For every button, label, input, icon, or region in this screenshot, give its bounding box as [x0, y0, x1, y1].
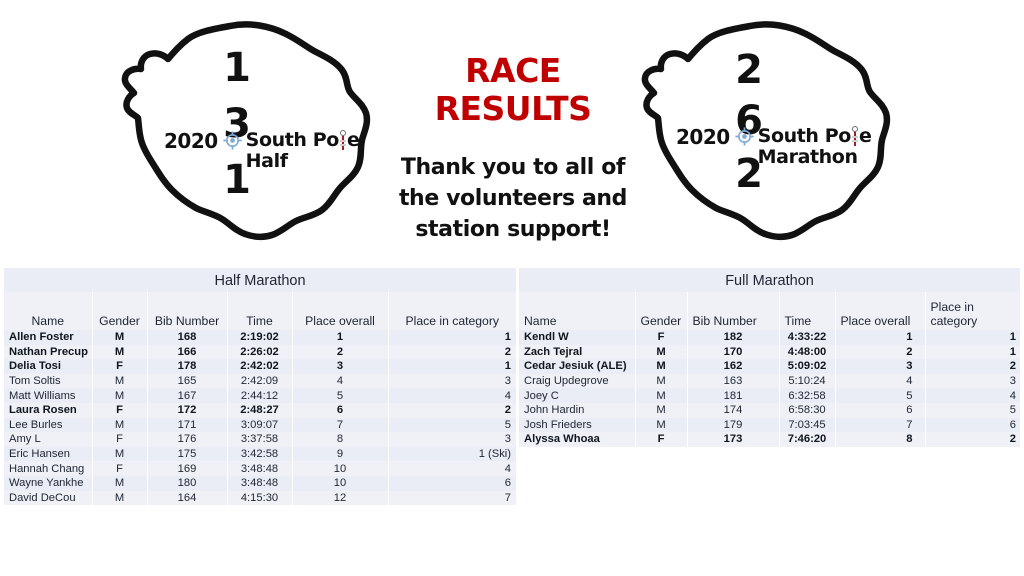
cell-place-category: 1 — [388, 330, 516, 345]
cell-place-overall: 5 — [292, 388, 388, 403]
cell-gender: M — [92, 491, 147, 506]
cell-place-category: 4 — [925, 388, 1020, 403]
cell-name: Eric Hansen — [4, 447, 92, 462]
logo-wordmark: 2020 South Po — [676, 126, 871, 168]
cell-place-overall: 9 — [292, 447, 388, 462]
column-header-gender[interactable]: Gender — [635, 292, 687, 330]
table-row[interactable]: David DeCouM1644:15:30127 — [4, 491, 516, 506]
cell-place-category: 5 — [388, 418, 516, 433]
logo-name-line-2: Marathon — [758, 147, 872, 168]
cell-time: 4:15:30 — [227, 491, 292, 506]
south-pole-marker-icon — [339, 130, 347, 151]
cell-bib-number: 176 — [147, 432, 227, 447]
column-header-place-overall[interactable]: Place overall — [835, 292, 925, 330]
logo-wordmark: 2020 South Po — [164, 130, 359, 172]
logo-name-suffix: e — [347, 130, 360, 151]
table-row[interactable]: Craig UpdegroveM1635:10:2443 — [519, 374, 1020, 389]
cell-place-category: 3 — [388, 374, 516, 389]
cell-name: Alyssa Whoaa — [519, 432, 635, 447]
cell-time: 3:37:58 — [227, 432, 292, 447]
cell-place-overall: 1 — [292, 330, 388, 345]
cell-bib-number: 164 — [147, 491, 227, 506]
cell-place-overall: 2 — [835, 345, 925, 360]
cell-place-overall: 4 — [835, 374, 925, 389]
cell-place-category: 3 — [388, 432, 516, 447]
table-row[interactable]: Lee BurlesM1713:09:0775 — [4, 418, 516, 433]
cell-place-category: 6 — [925, 418, 1020, 433]
table-header-row: Name Gender Bib Number Time Place overal… — [4, 292, 516, 330]
cell-name: Amy L — [4, 432, 92, 447]
cell-place-category: 2 — [388, 403, 516, 418]
cell-gender: M — [635, 345, 687, 360]
table-row[interactable]: Wayne YankheM1803:48:48106 — [4, 476, 516, 491]
cell-gender: M — [92, 374, 147, 389]
logo-name-suffix: e — [859, 126, 872, 147]
cell-time: 2:42:02 — [227, 359, 292, 374]
cell-place-overall: 8 — [835, 432, 925, 447]
logo-south-pole-marathon: 2 6 2 2020 South Po — [638, 18, 906, 246]
cell-name: Wayne Yankhe — [4, 476, 92, 491]
cell-bib-number: 165 — [147, 374, 227, 389]
logo-name-line-1: South Po e — [758, 126, 872, 147]
table-row[interactable]: Tom SoltisM1652:42:0943 — [4, 374, 516, 389]
cell-name: Tom Soltis — [4, 374, 92, 389]
crosshair-target-icon — [223, 131, 242, 150]
cell-gender: M — [635, 418, 687, 433]
cell-place-category: 1 — [925, 345, 1020, 360]
cell-gender: M — [92, 388, 147, 403]
column-header-place-category[interactable]: Place in category — [388, 292, 516, 330]
cell-place-category: 4 — [388, 461, 516, 476]
distance-digit: 2 — [732, 50, 766, 90]
cell-place-overall: 1 — [835, 330, 925, 345]
cell-place-overall: 8 — [292, 432, 388, 447]
table-row[interactable]: Delia TosiF1782:42:0231 — [4, 359, 516, 374]
cell-name: Nathan Precup — [4, 345, 92, 360]
cell-place-overall: 3 — [835, 359, 925, 374]
cell-name: Laura Rosen — [4, 403, 92, 418]
cell-time: 3:09:07 — [227, 418, 292, 433]
logo-name-prefix: South Po — [758, 126, 851, 147]
column-header-place-overall[interactable]: Place overall — [292, 292, 388, 330]
cell-name: Joey C — [519, 388, 635, 403]
cell-place-overall: 6 — [835, 403, 925, 418]
cell-gender: M — [92, 330, 147, 345]
cell-gender: M — [635, 403, 687, 418]
cell-time: 2:26:02 — [227, 345, 292, 360]
distance-digit: 1 — [220, 48, 254, 88]
cell-name: Delia Tosi — [4, 359, 92, 374]
table-title: Half Marathon — [4, 268, 516, 292]
column-header-time[interactable]: Time — [779, 292, 835, 330]
column-header-bib-number[interactable]: Bib Number — [147, 292, 227, 330]
cell-time: 6:58:30 — [779, 403, 835, 418]
table-header-row: Name Gender Bib Number Time Place overal… — [519, 292, 1020, 330]
cell-bib-number: 168 — [147, 330, 227, 345]
cell-bib-number: 178 — [147, 359, 227, 374]
column-header-bib-number[interactable]: Bib Number — [687, 292, 779, 330]
cell-gender: F — [635, 432, 687, 447]
cell-time: 7:03:45 — [779, 418, 835, 433]
cell-bib-number: 179 — [687, 418, 779, 433]
cell-bib-number: 166 — [147, 345, 227, 360]
logo-south-pole-half: 1 3 1 2020 South Po — [118, 18, 386, 246]
cell-place-overall: 4 — [292, 374, 388, 389]
table-row[interactable]: Josh FriedersM1797:03:4576 — [519, 418, 1020, 433]
table-title: Full Marathon — [519, 268, 1020, 292]
cell-place-overall: 6 — [292, 403, 388, 418]
cell-name: John Hardin — [519, 403, 635, 418]
logo-year: 2020 — [164, 130, 218, 152]
cell-gender: F — [92, 461, 147, 476]
thanks-line: station support! — [382, 214, 644, 245]
full-marathon-results-table: Full Marathon Name Gender Bib Number Tim… — [519, 268, 1020, 447]
cell-name: Matt Williams — [4, 388, 92, 403]
cell-name: Lee Burles — [4, 418, 92, 433]
cell-time: 5:09:02 — [779, 359, 835, 374]
cell-place-category: 1 — [925, 330, 1020, 345]
cell-place-category: 6 — [388, 476, 516, 491]
cell-gender: M — [92, 418, 147, 433]
table-row[interactable]: John HardinM1746:58:3065 — [519, 403, 1020, 418]
table-row[interactable]: Amy LF1763:37:5883 — [4, 432, 516, 447]
table-row[interactable]: Zach TejralM1704:48:0021 — [519, 345, 1020, 360]
cell-bib-number: 180 — [147, 476, 227, 491]
table-row[interactable]: Alyssa WhoaaF1737:46:2082 — [519, 432, 1020, 447]
table-row[interactable]: Kendl WF1824:33:2211 — [519, 330, 1020, 345]
cell-name: Craig Updegrove — [519, 374, 635, 389]
cell-bib-number: 172 — [147, 403, 227, 418]
cell-place-overall: 5 — [835, 388, 925, 403]
table-row[interactable]: Matt WilliamsM1672:44:1254 — [4, 388, 516, 403]
thanks-line: Thank you to all of — [382, 152, 644, 183]
cell-gender: F — [635, 330, 687, 345]
cell-gender: F — [92, 403, 147, 418]
cell-time: 2:42:09 — [227, 374, 292, 389]
table-title-row: Half Marathon — [4, 268, 516, 292]
logo-name-line-2: Half — [246, 151, 360, 172]
column-header-name[interactable]: Name — [519, 292, 635, 330]
logo-year: 2020 — [676, 126, 730, 148]
cell-place-category: 4 — [388, 388, 516, 403]
logo-name-prefix: South Po — [246, 130, 339, 151]
table-row[interactable]: Eric HansenM1753:42:5891 (Ski) — [4, 447, 516, 462]
column-header-name[interactable]: Name — [4, 292, 92, 330]
cell-name: Cedar Jesiuk (ALE) — [519, 359, 635, 374]
cell-place-overall: 3 — [292, 359, 388, 374]
cell-gender: M — [92, 345, 147, 360]
header-band: 1 3 1 2020 South Po — [0, 0, 1024, 258]
crosshair-target-icon — [735, 127, 754, 146]
cell-time: 7:46:20 — [779, 432, 835, 447]
half-marathon-results-table: Half Marathon Name Gender Bib Number Tim… — [4, 268, 516, 505]
cell-place-overall: 10 — [292, 476, 388, 491]
cell-time: 3:42:58 — [227, 447, 292, 462]
column-header-place-category[interactable]: Place in category — [925, 292, 1020, 330]
cell-time: 6:32:58 — [779, 388, 835, 403]
table-row[interactable]: Allen FosterM1682:19:0211 — [4, 330, 516, 345]
table-row[interactable]: Cedar Jesiuk (ALE)M1625:09:0232 — [519, 359, 1020, 374]
cell-time: 2:19:02 — [227, 330, 292, 345]
table-row[interactable]: Joey CM1816:32:5854 — [519, 388, 1020, 403]
cell-bib-number: 171 — [147, 418, 227, 433]
cell-place-category: 7 — [388, 491, 516, 506]
cell-gender: M — [635, 388, 687, 403]
cell-place-category: 2 — [925, 432, 1020, 447]
thanks-message: Thank you to all of the volunteers and s… — [382, 152, 644, 245]
cell-bib-number: 163 — [687, 374, 779, 389]
cell-place-overall: 7 — [835, 418, 925, 433]
cell-time: 4:33:22 — [779, 330, 835, 345]
cell-gender: M — [92, 476, 147, 491]
table-row[interactable]: Hannah ChangF1693:48:48104 — [4, 461, 516, 476]
cell-time: 3:48:48 — [227, 476, 292, 491]
cell-time: 5:10:24 — [779, 374, 835, 389]
cell-gender: M — [92, 447, 147, 462]
cell-place-overall: 10 — [292, 461, 388, 476]
cell-place-overall: 7 — [292, 418, 388, 433]
cell-gender: F — [92, 359, 147, 374]
cell-bib-number: 181 — [687, 388, 779, 403]
center-title-block: RACE RESULTS Thank you to all of the vol… — [382, 52, 644, 245]
cell-gender: F — [92, 432, 147, 447]
cell-gender: M — [635, 359, 687, 374]
cell-place-overall: 12 — [292, 491, 388, 506]
cell-bib-number: 169 — [147, 461, 227, 476]
cell-time: 2:48:27 — [227, 403, 292, 418]
logo-name-line-1: South Po e — [246, 130, 360, 151]
cell-bib-number: 167 — [147, 388, 227, 403]
cell-place-category: 5 — [925, 403, 1020, 418]
cell-bib-number: 182 — [687, 330, 779, 345]
cell-place-category: 2 — [925, 359, 1020, 374]
table-title-row: Full Marathon — [519, 268, 1020, 292]
cell-bib-number: 170 — [687, 345, 779, 360]
cell-place-category: 1 — [388, 359, 516, 374]
column-header-time[interactable]: Time — [227, 292, 292, 330]
page-title: RACE RESULTS — [382, 52, 644, 128]
cell-place-overall: 2 — [292, 345, 388, 360]
cell-time: 3:48:48 — [227, 461, 292, 476]
cell-place-category: 3 — [925, 374, 1020, 389]
table-row[interactable]: Laura RosenF1722:48:2762 — [4, 403, 516, 418]
cell-name: Josh Frieders — [519, 418, 635, 433]
cell-place-category: 1 (Ski) — [388, 447, 516, 462]
cell-bib-number: 173 — [687, 432, 779, 447]
cell-name: David DeCou — [4, 491, 92, 506]
cell-time: 4:48:00 — [779, 345, 835, 360]
column-header-gender[interactable]: Gender — [92, 292, 147, 330]
cell-name: Zach Tejral — [519, 345, 635, 360]
cell-bib-number: 162 — [687, 359, 779, 374]
cell-bib-number: 174 — [687, 403, 779, 418]
table-row[interactable]: Nathan PrecupM1662:26:0222 — [4, 345, 516, 360]
cell-time: 2:44:12 — [227, 388, 292, 403]
cell-place-category: 2 — [388, 345, 516, 360]
thanks-line: the volunteers and — [382, 183, 644, 214]
cell-name: Allen Foster — [4, 330, 92, 345]
cell-bib-number: 175 — [147, 447, 227, 462]
cell-name: Kendl W — [519, 330, 635, 345]
south-pole-marker-icon — [851, 126, 859, 147]
cell-gender: M — [635, 374, 687, 389]
cell-name: Hannah Chang — [4, 461, 92, 476]
